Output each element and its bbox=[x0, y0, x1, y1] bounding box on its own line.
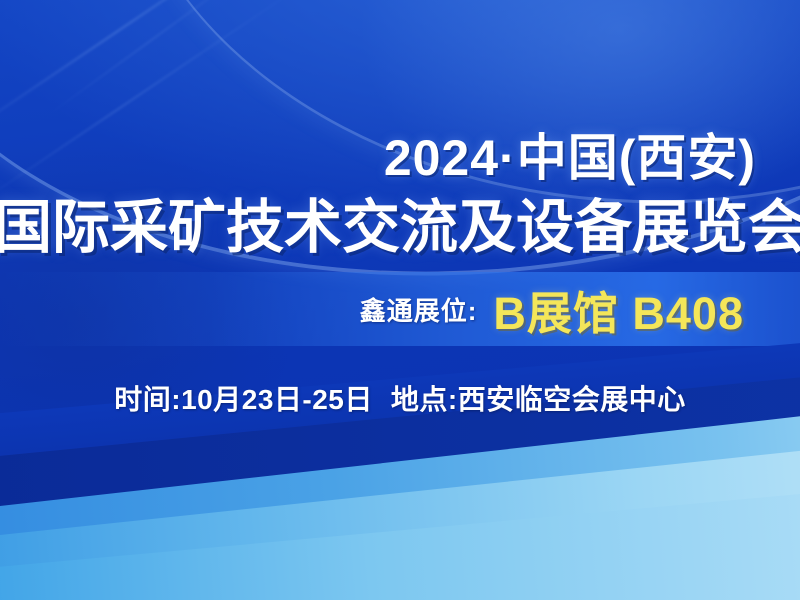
event-venue: 地点:西安临空会展中心 bbox=[391, 378, 686, 418]
booth-number: B展馆 B408 bbox=[493, 277, 744, 342]
exhibition-poster: 2024·中国(西安) 国际采矿技术交流及设备展览会 鑫通展位: B展馆 B40… bbox=[0, 0, 800, 600]
event-info-row: 时间:10月23日-25日 地点:西安临空会展中心 bbox=[0, 378, 800, 418]
booth-label: 鑫通展位: bbox=[360, 291, 478, 328]
event-date: 时间:10月23日-25日 bbox=[114, 378, 373, 418]
poster-content: 2024·中国(西安) 国际采矿技术交流及设备展览会 鑫通展位: B展馆 B40… bbox=[0, 0, 800, 600]
booth-row: 鑫通展位: B展馆 B408 bbox=[0, 276, 800, 342]
event-title-line-2: 国际采矿技术交流及设备展览会 bbox=[0, 180, 800, 264]
